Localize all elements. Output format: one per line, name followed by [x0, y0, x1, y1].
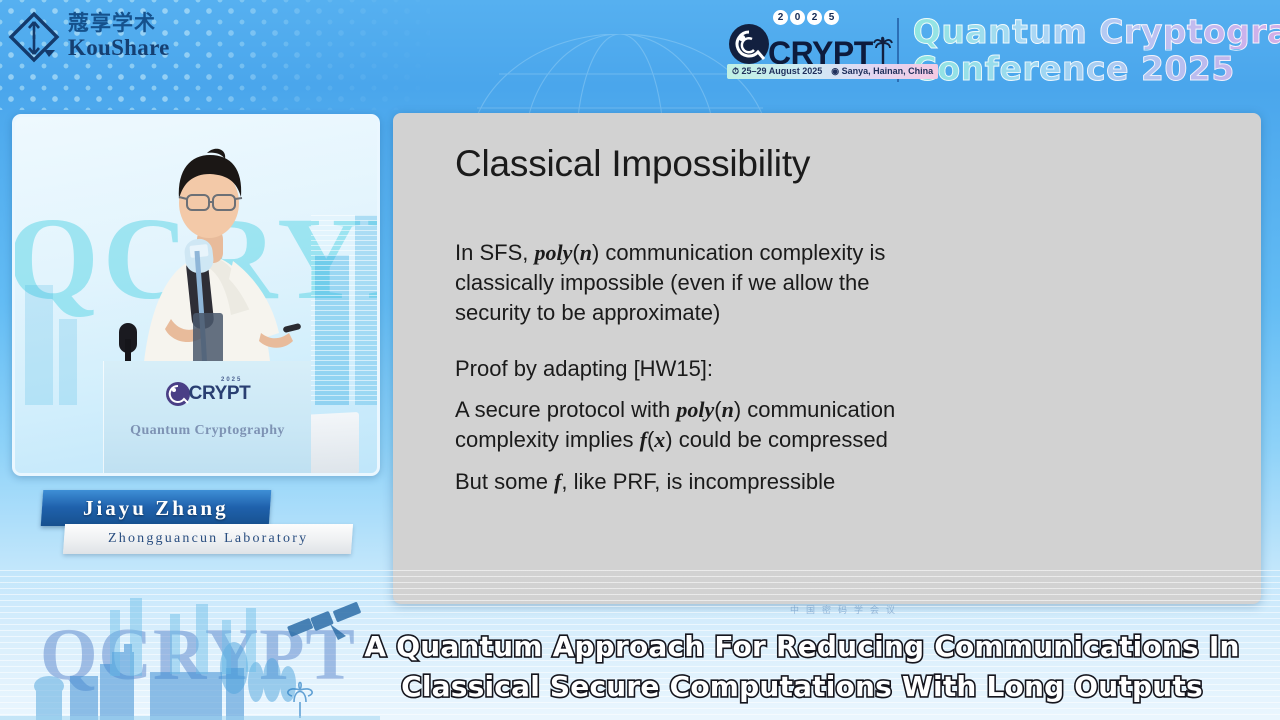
stage-tower [59, 319, 77, 405]
speaker-affiliation-bar: Zhongguancun Laboratory [63, 524, 353, 554]
speaker-name: Jiayu Zhang [83, 496, 229, 521]
city-skyline-decoration: QCRYPT [0, 590, 380, 720]
koushare-chinese-name: 蔻享学术 [68, 13, 170, 34]
koushare-diamond-icon [6, 9, 62, 65]
qcrypt-meta-bar: ⏱ 25–29 August 2025 ◉ Sanya, Hainan, Chi… [727, 64, 938, 79]
podium-subtitle: Quantum Cryptography [104, 423, 311, 439]
qcrypt-conference-header: 2 0 2 5 CRYPT ⏱ 25–2 [727, 8, 1272, 92]
slide-paragraph-line: complexity implies f(x) could be compres… [455, 426, 985, 454]
podium-q-icon [165, 381, 191, 407]
koushare-wordmark: 蔻享学术 KouShare [68, 13, 170, 61]
slide-paragraph-line: classically impossible (even if we allow… [455, 269, 985, 297]
slide-title: Classical Impossibility [455, 143, 810, 185]
conference-date: ⏱ 25–29 August 2025 [732, 66, 822, 77]
slide-paragraph-line: In SFS, poly(n) communication complexity… [455, 239, 985, 267]
year-digit: 2 [773, 10, 788, 25]
slide-paragraph-line: security to be approximate) [455, 299, 985, 327]
conference-title-line1: Quantum Cryptography [913, 15, 1280, 49]
stage-tower [25, 285, 53, 405]
slide-body: In SFS, poly(n) communication complexity… [455, 239, 985, 498]
year-digit: 0 [790, 10, 805, 25]
talk-title-line1: A Quantum Approach For Reducing Communic… [330, 627, 1274, 668]
slide-paragraph-line: A secure protocol with poly(n) communica… [455, 396, 1015, 424]
speaker-nameplate: Jiayu Zhang Zhongguancun Laboratory [42, 490, 352, 564]
year-digit: 2 [807, 10, 822, 25]
talk-title-line2: Classical Secure Computations With Long … [330, 667, 1274, 708]
speaker-affiliation: Zhongguancun Laboratory [108, 531, 308, 547]
speaker-name-bar: Jiayu Zhang [41, 490, 272, 526]
qcrypt-q-swirl-icon [727, 22, 773, 68]
conference-location: ◉ Sanya, Hainan, China [831, 66, 933, 77]
video-stage: QCRYPT [15, 117, 377, 473]
koushare-english-name: KouShare [68, 36, 170, 59]
palm-tree-icon [873, 34, 893, 68]
podium-wordmark: CRYPT [189, 383, 251, 405]
bottom-ticker-text: 中国密码学会议 [790, 603, 902, 616]
qcrypt-year-badges: 2 0 2 5 [773, 10, 839, 25]
paragraph-spacer [455, 329, 985, 355]
podium-year: 2025 [221, 377, 242, 383]
podium: CRYPT 2025 Quantum Cryptography [103, 361, 311, 473]
year-digit: 5 [824, 10, 839, 25]
koushare-logo: 蔻享学术 KouShare [6, 6, 196, 68]
presentation-slide[interactable]: Classical Impossibility In SFS, poly(n) … [393, 113, 1261, 604]
conference-title: Quantum Cryptography Conference 2025 [913, 15, 1280, 85]
slide-paragraph-line: But some f, like PRF, is incompressible [455, 468, 985, 496]
speaker-video-panel[interactable]: QCRYPT [12, 114, 380, 476]
stage-grid [311, 215, 377, 405]
qcrypt-brand-block: 2 0 2 5 CRYPT ⏱ 25–2 [727, 9, 893, 91]
podium-logo: CRYPT 2025 [104, 381, 311, 407]
talk-title-banner: A Quantum Approach For Reducing Communic… [330, 627, 1274, 708]
slide-proof-heading: Proof by adapting [HW15]: [455, 355, 985, 383]
conference-title-line2: Conference 2025 [913, 52, 1280, 86]
